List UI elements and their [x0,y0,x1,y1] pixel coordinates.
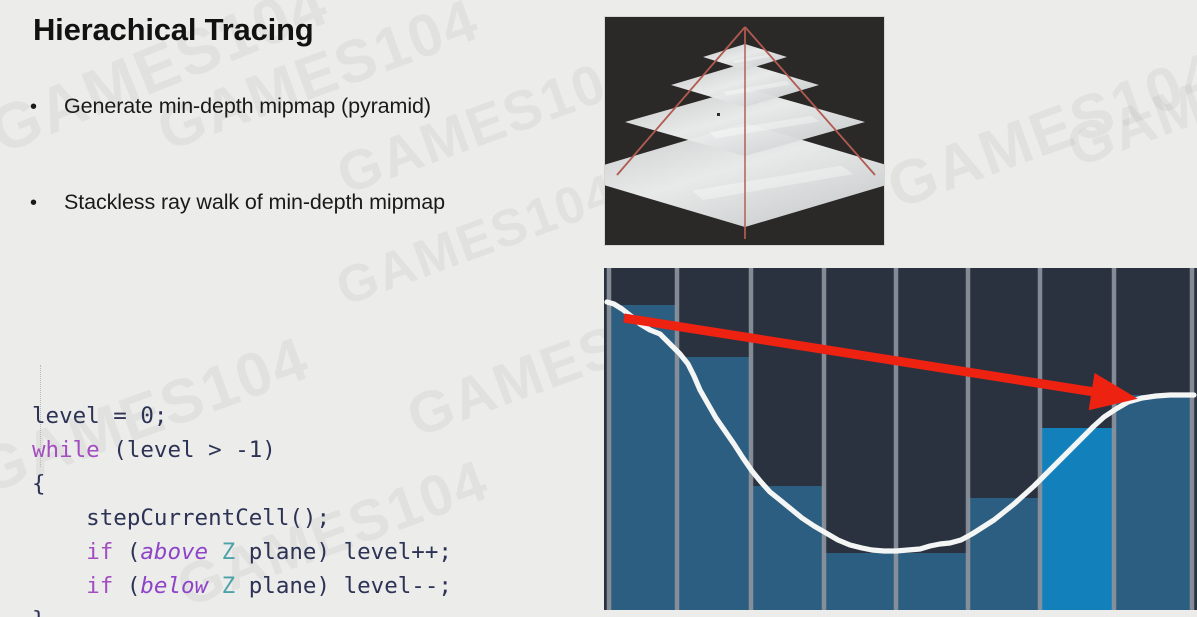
code-token: if [86,573,113,599]
code-token: plane) level--; [235,573,452,599]
code-token: above [140,539,208,565]
min-depth-walk-illustration [604,268,1197,610]
bullet-text-0: Generate min-depth mipmap (pyramid) [64,94,431,119]
mipmap-pyramid-figure [604,16,885,246]
left-content-column: Hierachical Tracing • Generate min-depth… [0,0,600,617]
code-token: stepCurrentCell(); [32,505,330,531]
code-token: Z [222,539,236,565]
code-token [32,539,86,565]
code-token: } [32,607,46,617]
code-token: level [127,437,195,463]
code-token: ( [113,573,140,599]
code-token: > [195,437,236,463]
code-block: level = 0;while (level > -1){ stepCurren… [32,297,452,617]
code-token: ( [113,539,140,565]
min-depth-cell-bar-7 [1114,395,1192,610]
code-token: ( [100,437,127,463]
page-title: Hierachical Tracing [33,12,314,48]
code-line: if (below Z plane) level--; [32,569,452,603]
code-line: level = 0; [32,399,452,433]
min-depth-cell-bar-4 [896,553,968,610]
bullet-item-0: • Generate min-depth mipmap (pyramid) [30,94,431,119]
pyramid-surface-speck [717,113,720,116]
min-depth-cell-bar-6 [1040,428,1114,610]
code-token: = [100,403,141,429]
min-depth-mipmap-figure [604,268,1197,610]
watermark-text: GAMES104 [1058,6,1197,180]
code-token: ; [154,403,168,429]
code-token: { [32,471,46,497]
code-token: Z [222,573,236,599]
code-token: while [32,437,100,463]
min-depth-cell-bar-1 [677,357,751,610]
min-depth-cell-bar-3 [824,553,896,610]
code-token: if [86,539,113,565]
bullet-item-1: • Stackless ray walk of min-depth mipmap [30,190,445,215]
code-token [32,573,86,599]
bullet-text-1: Stackless ray walk of min-depth mipmap [64,190,445,215]
mipmap-pyramid-illustration [605,17,884,245]
code-line: if (above Z plane) level++; [32,535,452,569]
code-token: plane) level++; [235,539,452,565]
code-token: below [140,573,208,599]
code-token [208,573,222,599]
code-token: -1 [235,437,262,463]
min-depth-cell-bar-0 [609,305,677,610]
bullet-marker-icon: • [30,193,64,213]
code-token: level [32,403,100,429]
code-token: ) [262,437,276,463]
code-line: } [32,603,452,617]
code-line: while (level > -1) [32,433,452,467]
code-token: 0 [140,403,154,429]
code-line: stepCurrentCell(); [32,501,452,535]
bullet-marker-icon: • [30,97,64,117]
watermark-text: GAMES104 [878,38,1197,223]
code-token [208,539,222,565]
slide-root: GAMES104GAMES104GAMES104GAMES104GAMES104… [0,0,1197,617]
code-line: { [32,467,452,501]
